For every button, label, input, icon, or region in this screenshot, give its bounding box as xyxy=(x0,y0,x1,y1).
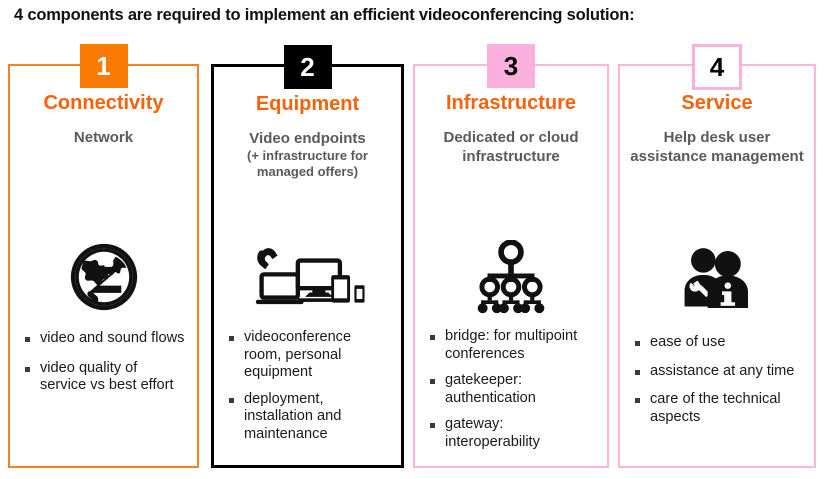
card-title-infrastructure: Infrastructure xyxy=(446,92,576,114)
card-infrastructure[interactable]: 3 Infrastructure Dedicated or cloud infr… xyxy=(413,64,609,468)
card-subtitle-service: Help desk user assistance management xyxy=(628,128,806,166)
card-number-badge-2: 2 xyxy=(284,45,332,89)
card-number-badge-3: 3 xyxy=(487,44,535,88)
card-title-equipment: Equipment xyxy=(256,93,359,115)
devices-icon xyxy=(214,235,401,321)
list-item: gatekeeper: authentication xyxy=(429,372,595,407)
card-subtitle-main: Video endpoints xyxy=(249,130,365,147)
list-item: assistance at any time xyxy=(634,363,802,381)
list-item: ease of use xyxy=(634,334,802,352)
slide-canvas: 4 components are required to implement a… xyxy=(0,0,824,479)
card-connectivity[interactable]: 1 Connectivity Network video and xyxy=(8,64,199,468)
component-cards-row: 1 Connectivity Network video and xyxy=(0,64,824,468)
globe-network-icon xyxy=(10,234,197,320)
bullet-list-infrastructure: bridge: for multipoint conferences gatek… xyxy=(415,328,607,460)
card-subtitle-equipment: Video endpoints (+ infrastructure for ma… xyxy=(222,129,393,180)
card-equipment[interactable]: 2 Equipment Video endpoints (+ infrastru… xyxy=(211,64,404,468)
list-item: deployment, installation and maintenance xyxy=(228,391,389,444)
page-title: 4 components are required to implement a… xyxy=(14,6,814,25)
card-title-connectivity: Connectivity xyxy=(43,92,163,114)
list-item: videoconference room, personal equipment xyxy=(228,329,389,382)
bullet-list-connectivity: video and sound flows video quality of s… xyxy=(10,330,197,407)
list-item: gateway: interoperability xyxy=(429,416,595,451)
card-number-badge-4: 4 xyxy=(692,44,742,90)
list-item: video quality of service vs best effort xyxy=(24,360,185,395)
bullet-list-service: ease of use assistance at any time care … xyxy=(620,334,814,437)
list-item: care of the technical aspects xyxy=(634,391,802,426)
list-item: bridge: for multipoint conferences xyxy=(429,328,595,363)
card-subtitle-note: (+ infrastructure for managed offers) xyxy=(222,148,393,180)
card-service[interactable]: 4 Service Help desk user assistance mana… xyxy=(618,64,816,468)
card-subtitle-infrastructure: Dedicated or cloud infrastructure xyxy=(423,128,599,166)
list-item: video and sound flows xyxy=(24,330,185,348)
network-tree-icon xyxy=(415,234,607,320)
bullet-list-equipment: videoconference room, personal equipment… xyxy=(214,329,401,452)
card-number-badge-1: 1 xyxy=(80,44,128,88)
card-title-service: Service xyxy=(681,92,752,114)
card-subtitle-connectivity: Network xyxy=(74,128,133,147)
support-people-icon xyxy=(620,234,814,320)
